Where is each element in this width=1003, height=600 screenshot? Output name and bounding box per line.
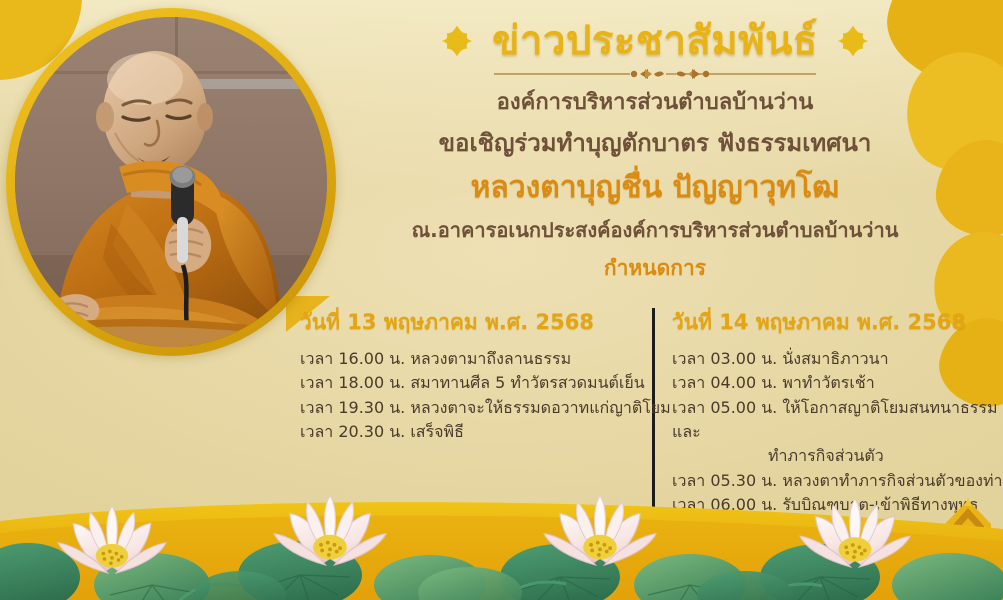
schedule-item-continuation: ทำภารกิจส่วนตัว (672, 444, 1000, 468)
schedule-item: เวลา 20.30 น. เสร็จพิธี (300, 420, 638, 444)
monk-portrait (6, 8, 336, 356)
schedule-item: เวลา 18.00 น. สมาทานศีล 5 ทำวัตรสวดมนต์เ… (300, 371, 638, 395)
schedule-item: เวลา 16.00 น. หลวงตามาถึงลานธรรม (300, 347, 638, 371)
schedule-item-text: เวลา 03.00 น. นั่งสมาธิภาวนา (672, 349, 889, 368)
portrait-photo (15, 17, 327, 347)
quatrefoil-icon (440, 24, 474, 58)
lotus-band-illustration (0, 485, 1003, 600)
day2-heading: วันที่ 14 พฤษภาคม พ.ศ. 2568 (672, 306, 1000, 339)
announcement-poster: ข่าวประชาสัมพันธ์ องค์การบริหารส่วนตำบลบ… (0, 0, 1003, 600)
quatrefoil-icon (836, 24, 870, 58)
schedule-item-text: เวลา 05.00 น. ให้โอกาสญาติโยมสนทนาธรรมแล… (672, 398, 998, 441)
poster-header: ข่าวประชาสัมพันธ์ องค์การบริหารส่วนตำบลบ… (345, 18, 965, 285)
venue-line: ณ.อาคารอเนกประสงค์องค์การบริหารส่วนตำบลบ… (345, 217, 965, 243)
monk-name: หลวงตาบุญชื่น ปัญญาวุทโฒ (345, 170, 965, 206)
lotus-decoration-band (0, 485, 1003, 600)
organization-line: องค์การบริหารส่วนตำบลบ้านว่าน (345, 88, 965, 118)
agenda-heading: กำหนดการ (345, 252, 965, 285)
page-title: ข่าวประชาสัมพันธ์ (492, 18, 818, 64)
title-row: ข่าวประชาสัมพันธ์ (345, 18, 965, 64)
schedule-item-text: เวลา 04.00 น. พาทำวัตรเช้า (672, 373, 875, 392)
schedule-item: เวลา 19.30 น. หลวงตาจะให้ธรรมดอวาทแก่ญาต… (300, 396, 638, 420)
schedule-item: เวลา 04.00 น. พาทำวัตรเช้า (672, 371, 1000, 395)
schedule-item: เวลา 05.00 น. ให้โอกาสญาติโยมสนทนาธรรมแล… (672, 396, 1000, 469)
day1-heading: วันที่ 13 พฤษภาคม พ.ศ. 2568 (300, 306, 638, 339)
schedule-column-day1: วันที่ 13 พฤษภาคม พ.ศ. 2568 เวลา 16.00 น… (300, 306, 652, 444)
monk-photo-illustration (15, 17, 327, 347)
schedule-item: เวลา 03.00 น. นั่งสมาธิภาวนา (672, 347, 1000, 371)
invitation-line: ขอเชิญร่วมทำบุญตักบาตร ฟังธรรมเทศนา (345, 127, 965, 159)
divider-flourish-icon (490, 66, 820, 82)
